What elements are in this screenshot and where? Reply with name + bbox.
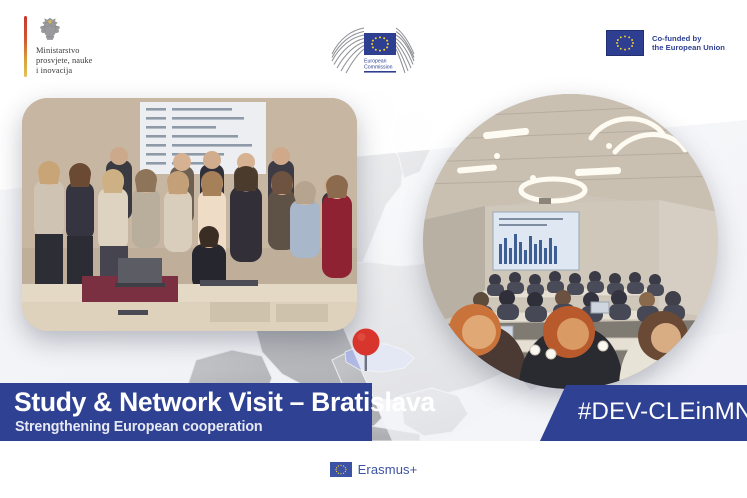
- ministry-line-3: i inovacija: [36, 66, 92, 76]
- eu-flag-icon: [330, 462, 352, 477]
- page-subtitle: Strengthening European cooperation: [15, 419, 263, 435]
- hashtag-banner: #DEV-CLEinMNE: [540, 385, 747, 441]
- erasmus-plus-label: Erasmus+: [358, 462, 418, 477]
- eu-flag-icon: [606, 30, 644, 56]
- page-title: Study & Network Visit – Bratislava: [14, 387, 435, 418]
- title-banner: Study & Network Visit – Bratislava Stren…: [0, 383, 372, 441]
- hashtag-text: #DEV-CLEinMNE: [578, 398, 747, 426]
- poster-root: Study & Network Visit – Bratislava Stren…: [0, 0, 747, 498]
- ministry-accent-bar: [24, 16, 27, 77]
- montenegro-coat-of-arms-icon: [36, 16, 64, 43]
- ministry-logo: Ministarstvo prosvjete, nauke i inovacij…: [24, 16, 92, 77]
- header: Ministarstvo prosvjete, nauke i inovacij…: [0, 0, 747, 92]
- ministry-name: Ministarstvo prosvjete, nauke i inovacij…: [36, 46, 92, 77]
- group-photo: [22, 98, 357, 331]
- ministry-line-2: prosvjete, nauke: [36, 56, 92, 66]
- ministry-line-1: Ministarstvo: [36, 46, 92, 56]
- visual-stage: Study & Network Visit – Bratislava Stren…: [0, 0, 747, 441]
- european-commission-logo-icon: European Commission: [330, 18, 416, 78]
- footer: Erasmus+: [0, 441, 747, 498]
- co-funded-label: Co-funded by the European Union: [652, 34, 725, 53]
- co-funded-line-2: the European Union: [652, 43, 725, 52]
- map-location-pin-icon: [350, 327, 382, 378]
- conference-hall-photo: [423, 94, 718, 389]
- ec-label-line-2: Commission: [364, 65, 393, 71]
- co-funded-by-eu-logo: Co-funded by the European Union: [606, 30, 725, 56]
- co-funded-line-1: Co-funded by: [652, 34, 725, 43]
